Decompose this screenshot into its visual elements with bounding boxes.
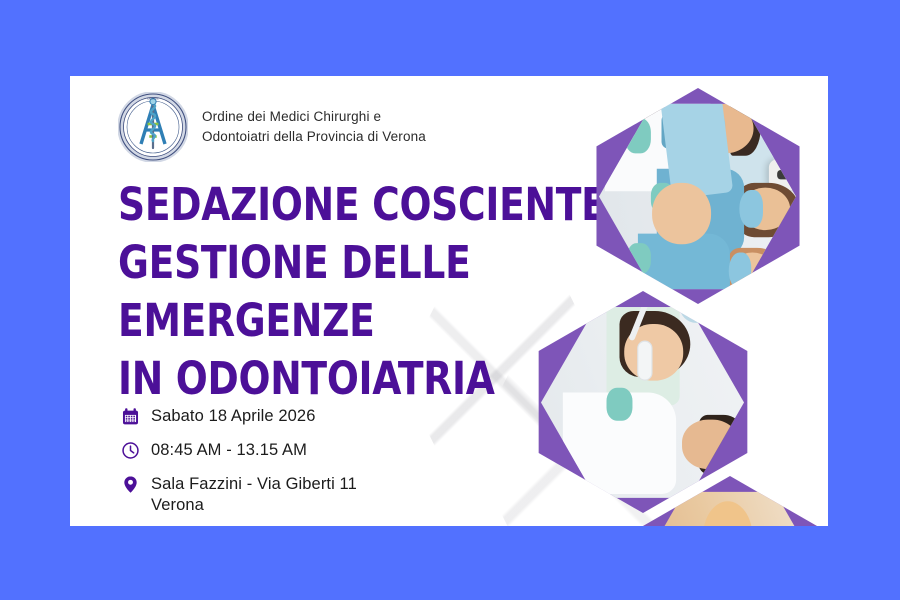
location-pin-icon	[118, 474, 142, 494]
detail-row-location: Sala Fazzini - Via Giberti 11 Verona	[118, 474, 357, 516]
event-location: Sala Fazzini - Via Giberti 11 Verona	[151, 474, 357, 516]
organization-name: Ordine dei Medici Chirurghi e Odontoiatr…	[202, 107, 426, 146]
title-line-2: GESTIONE DELLE	[118, 234, 645, 292]
svg-text:ORDINE: ORDINE	[147, 97, 159, 101]
ordine-medici-verona-seal-icon: ORDINE	[118, 92, 188, 162]
flyer-card: ORDINE Ordine dei Medici Chirurghi e Odo…	[70, 76, 828, 526]
calendar-icon	[118, 406, 142, 426]
detail-row-date: Sabato 18 Aprile 2026	[118, 406, 357, 427]
event-time: 08:45 AM - 13.15 AM	[151, 440, 307, 461]
event-date: Sabato 18 Aprile 2026	[151, 406, 315, 427]
detail-row-time: 08:45 AM - 13.15 AM	[118, 440, 357, 461]
event-details: Sabato 18 Aprile 2026 08:45 AM - 13.15 A…	[118, 406, 357, 526]
clock-icon	[118, 440, 142, 460]
header: ORDINE Ordine dei Medici Chirurghi e Odo…	[118, 92, 426, 162]
title-line-1: SEDAZIONE COSCIENTE E	[118, 176, 645, 234]
